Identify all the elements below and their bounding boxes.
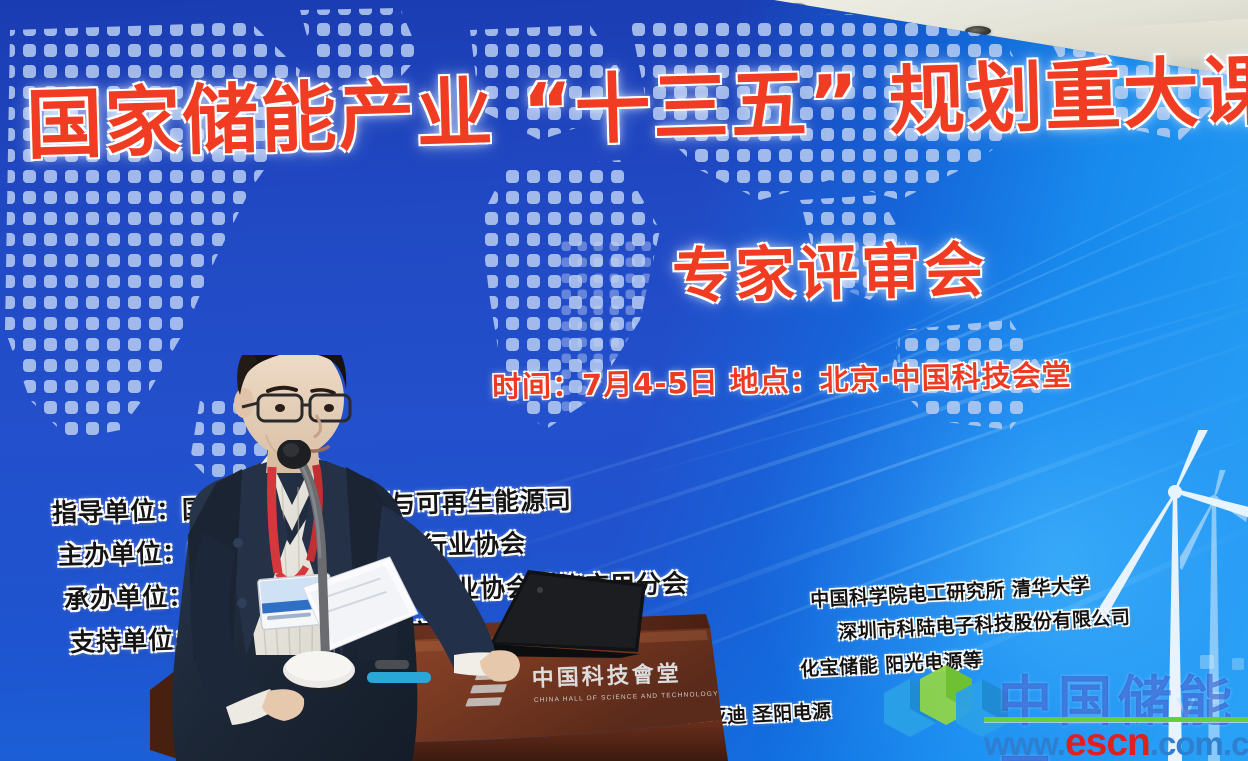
banner-title-line2: 专家评审会 [671, 222, 988, 316]
laptop [470, 548, 660, 658]
screenshot-root: 国家储能产业 “十三五” 规划重大课题研究成 专家评审会 时间：7月4-5日 地… [0, 0, 1248, 761]
desk-items [275, 648, 455, 708]
